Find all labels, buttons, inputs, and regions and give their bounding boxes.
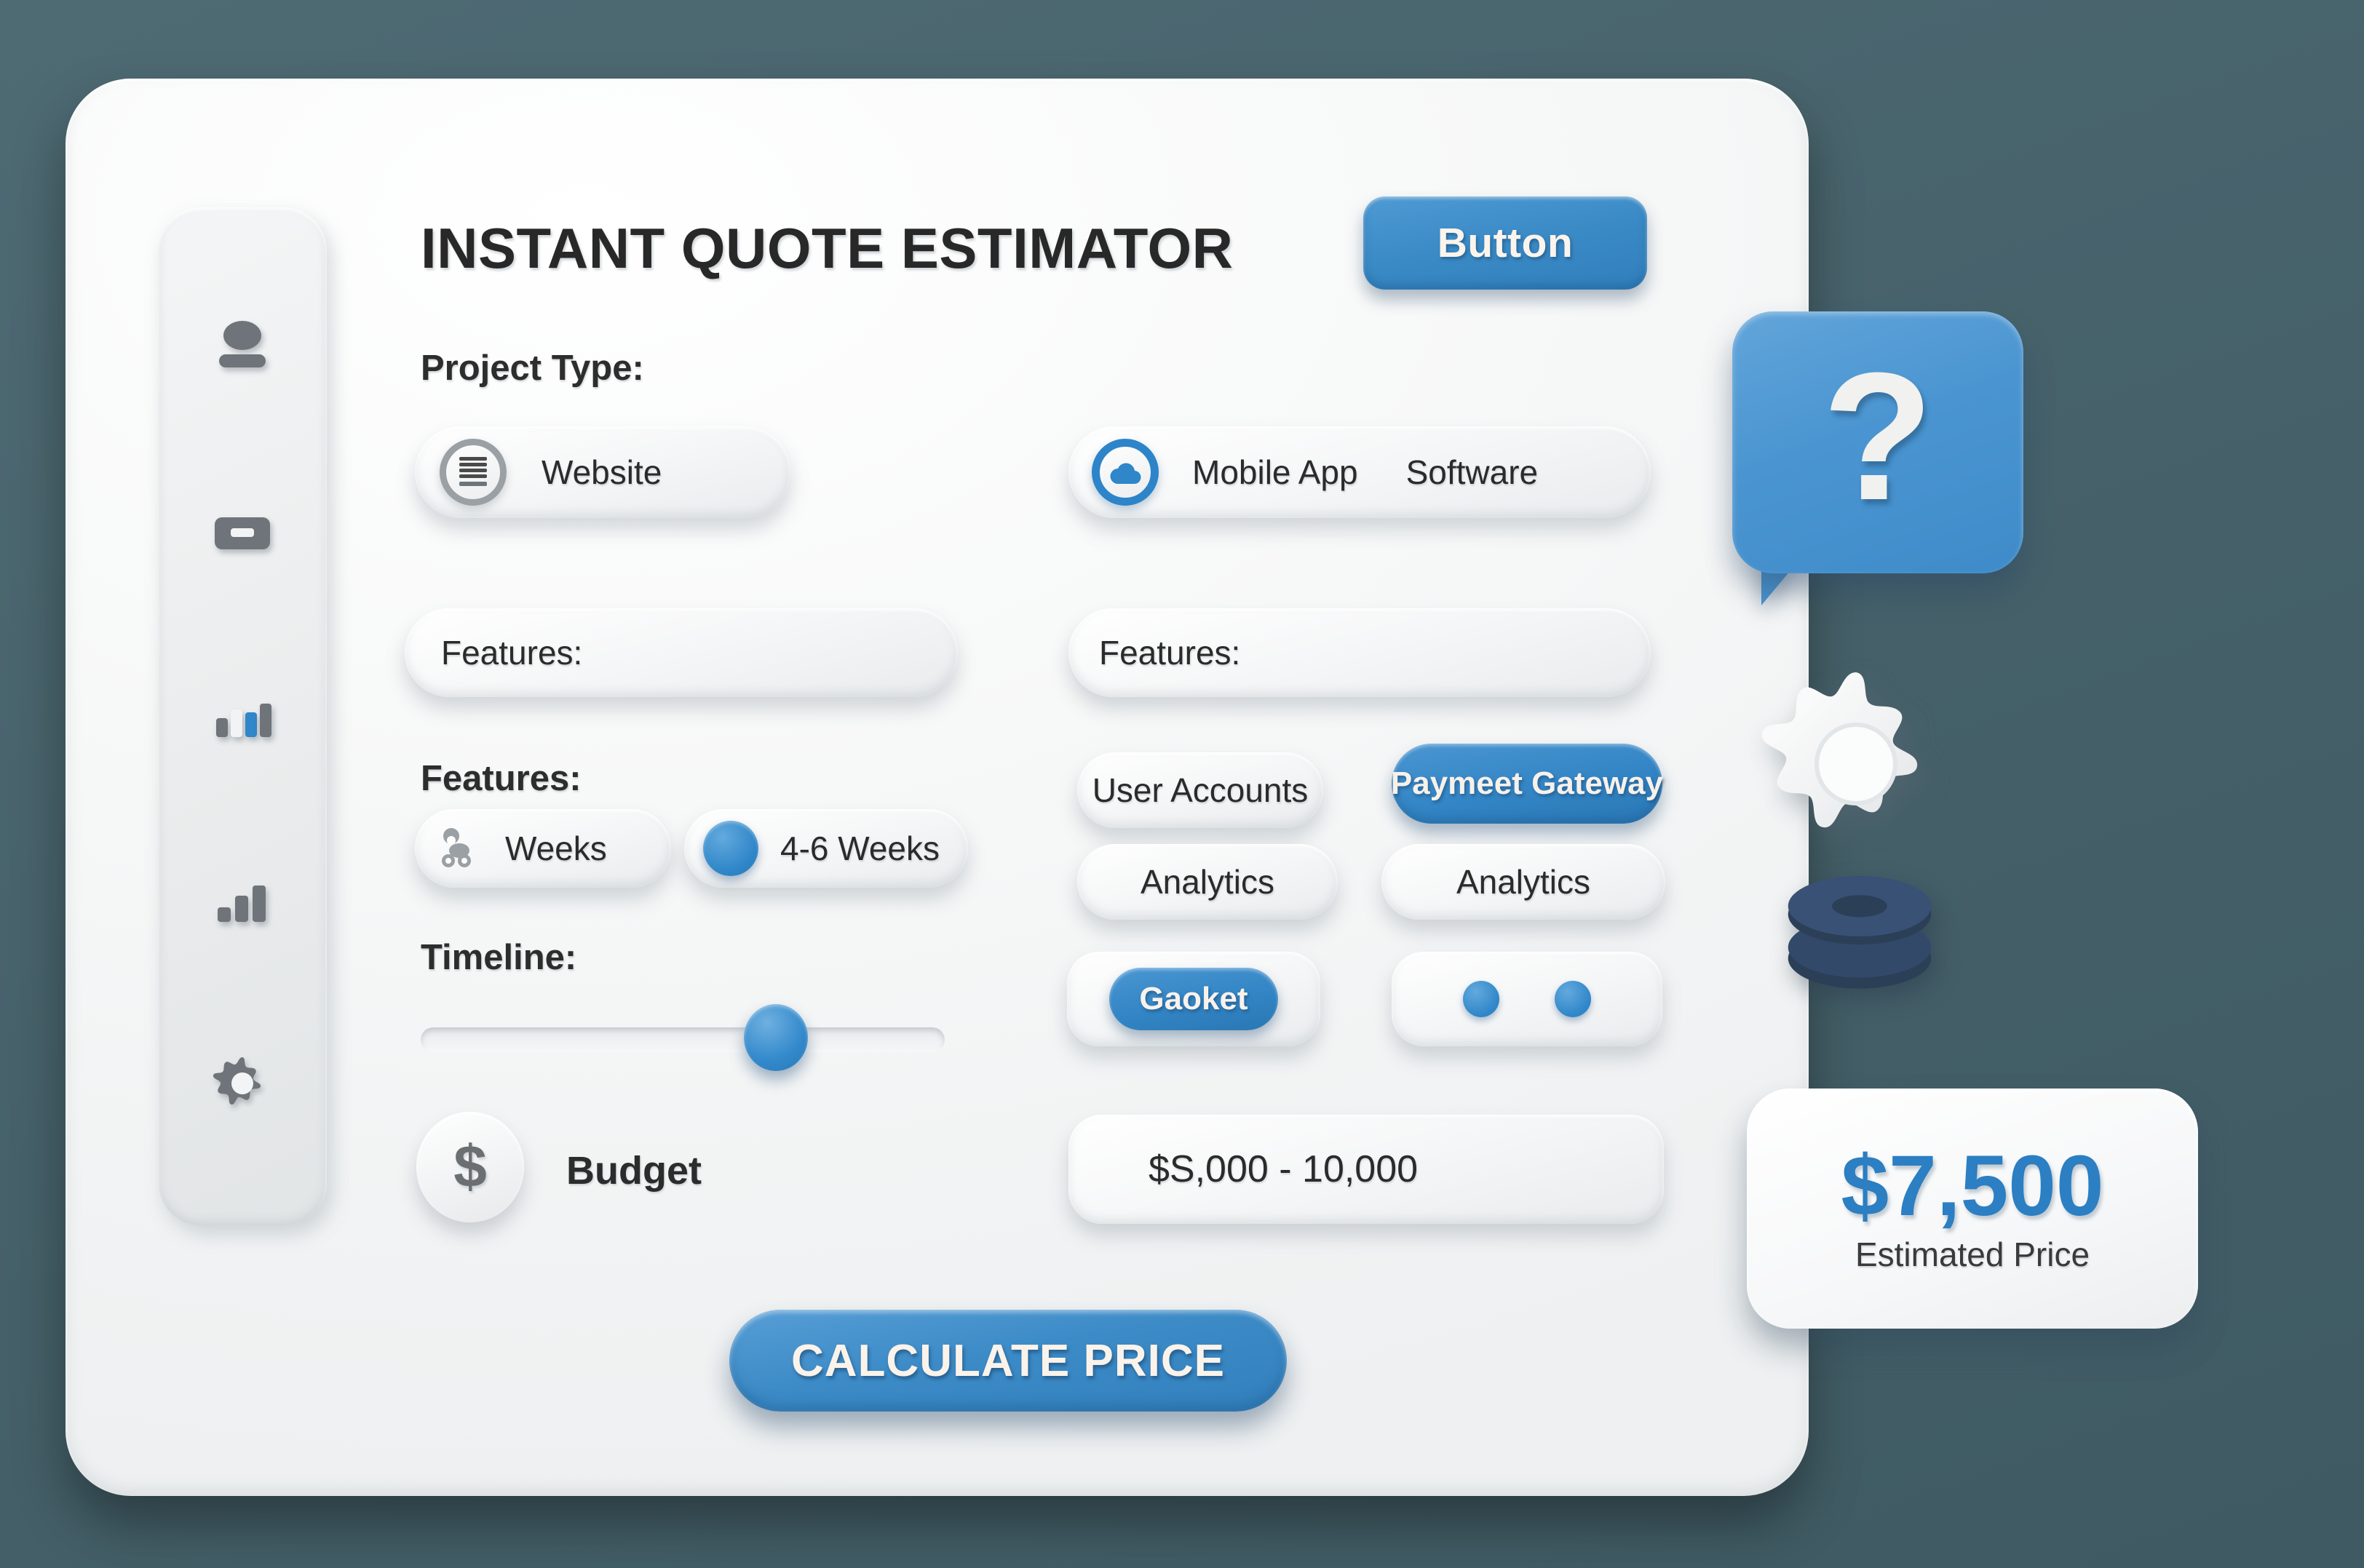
bar-chart-icon [206, 680, 279, 753]
project-type-option-software[interactable]: Software [1406, 453, 1539, 492]
project-type-option-website[interactable]: Website [415, 426, 790, 518]
calculate-price-button[interactable]: CALCULATE PRICE [729, 1310, 1287, 1412]
estimated-price-caption: Estimated Price [1855, 1235, 2090, 1274]
people-icon [437, 826, 482, 872]
header-action-button[interactable]: Button [1363, 196, 1647, 290]
timeline-option-label: Weeks [505, 829, 607, 868]
budget-label: Budget [566, 1148, 702, 1193]
sidebar-item-card[interactable] [199, 490, 285, 576]
feature-chip-analytics-2[interactable]: Analytics [1381, 844, 1665, 920]
feature-chip-analytics-1[interactable]: Analytics [1077, 844, 1338, 920]
sidebar-item-reports[interactable] [199, 857, 285, 943]
timeline-option-label: 4-6 Weeks [780, 829, 940, 868]
feature-chip-payment-gateway[interactable]: Paymeet Gateway [1392, 744, 1662, 824]
budget-range-value: $S,000 - 10,000 [1149, 1147, 1418, 1191]
page-title: INSTANT QUOTE ESTIMATOR [421, 215, 1234, 282]
timeline-option-weeks[interactable]: Weeks [415, 809, 671, 888]
timeline-slider-handle[interactable] [744, 1004, 808, 1071]
sidebar-nav[interactable] [158, 207, 327, 1226]
project-type-option-mobile-app[interactable]: Mobile App Software [1068, 426, 1651, 518]
sidebar-item-settings[interactable] [199, 1040, 285, 1126]
toggle-group-left[interactable]: Gaoket [1067, 952, 1320, 1046]
toggle-chip-label[interactable]: Gaoket [1109, 968, 1278, 1030]
help-bubble[interactable]: ? [1732, 311, 2023, 573]
features-field-right[interactable]: Features: [1068, 608, 1651, 697]
feature-chip-user-accounts[interactable]: User Accounts [1077, 752, 1323, 828]
features-section-label: Features: [421, 758, 582, 799]
budget-range-field[interactable]: $S,000 - 10,000 [1068, 1115, 1664, 1224]
toggle-dot-2[interactable] [1555, 981, 1591, 1017]
timeline-slider-track[interactable] [421, 1027, 945, 1052]
stacked-discs-icon [1769, 873, 1951, 997]
feature-chip-label: Paymeet Gateway [1391, 765, 1663, 802]
project-type-option-label: Website [542, 453, 662, 492]
cloud-icon [1092, 439, 1159, 506]
features-field-left[interactable]: Features: [405, 608, 958, 697]
card-icon [206, 497, 279, 570]
bar-chart-ascending-icon [206, 864, 279, 936]
estimated-price-card: $7,500 Estimated Price [1747, 1089, 2198, 1329]
user-icon [206, 314, 279, 386]
question-mark-icon: ? [1822, 346, 1934, 528]
gear-icon [206, 1047, 279, 1120]
toggle-group-right[interactable] [1392, 952, 1662, 1046]
project-type-option-label: Mobile App [1192, 453, 1358, 492]
feature-chip-label: Analytics [1456, 862, 1590, 902]
estimated-price-value: $7,500 [1841, 1143, 2104, 1229]
timeline-label: Timeline: [421, 937, 576, 978]
screenshot-stage: INSTANT QUOTE ESTIMATOR Button Project T… [0, 0, 2364, 1568]
project-type-label: Project Type: [421, 348, 644, 389]
dollar-icon: $ [416, 1112, 524, 1222]
document-lines-icon [440, 439, 507, 506]
sidebar-item-user[interactable] [199, 307, 285, 393]
timeline-option-4-6-weeks[interactable]: 4-6 Weeks [684, 809, 968, 888]
feature-chip-label: User Accounts [1092, 771, 1309, 810]
sidebar-item-analytics[interactable] [199, 674, 285, 760]
gear-3d-icon [1747, 655, 1965, 873]
radio-selected-icon[interactable] [703, 821, 758, 876]
features-field-left-label: Features: [441, 633, 582, 672]
feature-chip-label: Analytics [1141, 862, 1274, 902]
features-field-right-label: Features: [1099, 633, 1240, 672]
toggle-dot-1[interactable] [1463, 981, 1499, 1017]
